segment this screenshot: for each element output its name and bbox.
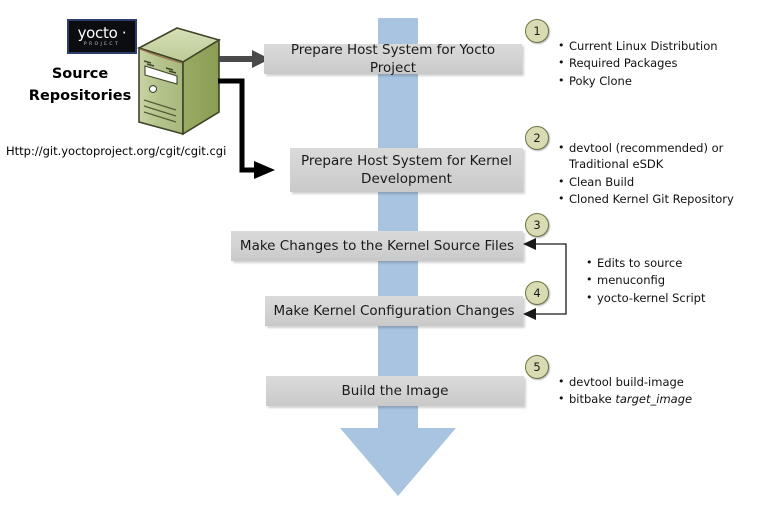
server-tower-icon <box>133 26 225 144</box>
list-item: devtool build-image <box>569 374 761 390</box>
step-number-5-text: 5 <box>533 360 540 374</box>
step-number-3: 3 <box>525 213 549 237</box>
list-item: menuconfig <box>597 272 764 288</box>
diagram-canvas: yocto · PROJECT Source Repositories Http… <box>0 0 769 517</box>
step-box-5-label: Build the Image <box>342 382 449 400</box>
step-1-bullet-list: Current Linux Distribution Required Pack… <box>556 38 766 90</box>
step-number-3-text: 3 <box>533 218 540 232</box>
yocto-project-logo: yocto · PROJECT <box>67 19 137 54</box>
step-number-1-text: 1 <box>533 24 540 38</box>
step-box-2-label: Prepare Host System for Kernel Developme… <box>296 152 517 188</box>
step-box-4-label: Make Kernel Configuration Changes <box>273 302 514 320</box>
step-number-5: 5 <box>525 355 549 379</box>
bracket-connector-steps-3-4 <box>520 236 590 322</box>
list-item: Edits to source <box>597 255 764 271</box>
list-item: Current Linux Distribution <box>569 38 766 54</box>
step-box-1-label: Prepare Host System for Yocto Project <box>270 41 516 77</box>
list-item-emphasis: target_image <box>615 392 692 406</box>
yocto-logo-wordmark: yocto · <box>78 26 127 41</box>
list-item: yocto-kernel Script <box>597 290 764 306</box>
list-item: Clean Build <box>569 174 769 190</box>
step-number-1: 1 <box>525 19 549 43</box>
source-repositories-label: Source Repositories <box>20 64 140 108</box>
step-box-3-label: Make Changes to the Kernel Source Files <box>240 237 514 255</box>
list-item: Required Packages <box>569 55 766 71</box>
step-box-3[interactable]: Make Changes to the Kernel Source Files <box>231 231 523 261</box>
list-item-text: bitbake <box>569 392 615 406</box>
step-box-1[interactable]: Prepare Host System for Yocto Project <box>264 44 522 74</box>
step-box-2[interactable]: Prepare Host System for Kernel Developme… <box>290 148 523 192</box>
list-item: Poky Clone <box>569 73 766 89</box>
step-box-4[interactable]: Make Kernel Configuration Changes <box>265 296 523 326</box>
step-5-bullet-list: devtool build-image bitbake target_image <box>556 374 761 409</box>
step-2-bullet-list: devtool (recommended) or Traditional eSD… <box>556 140 769 208</box>
workflow-spine-arrowhead <box>340 428 456 496</box>
yocto-logo-subtext: PROJECT <box>84 43 120 48</box>
list-item: bitbake target_image <box>569 391 761 407</box>
step-number-2: 2 <box>525 126 549 150</box>
step-box-5[interactable]: Build the Image <box>266 376 524 406</box>
list-item-text: devtool build-image <box>569 375 684 389</box>
steps-3-4-bullet-list: Edits to source menuconfig yocto-kernel … <box>584 255 764 307</box>
step-number-2-text: 2 <box>533 131 540 145</box>
arrow-server-to-step2 <box>218 78 298 178</box>
list-item: Cloned Kernel Git Repository <box>569 191 769 207</box>
list-item: devtool (recommended) or Traditional eSD… <box>569 140 769 173</box>
source-repositories-url: Http://git.yoctoproject.org/cgit/cgit.cg… <box>6 144 231 158</box>
workflow-spine <box>378 18 418 430</box>
